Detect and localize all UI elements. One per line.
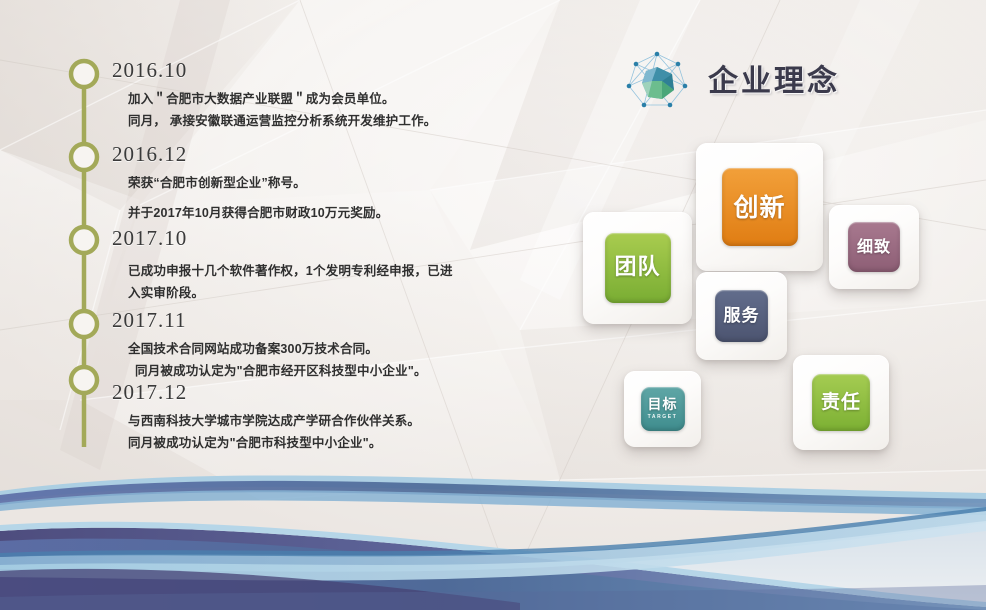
value-card-team[interactable]: 团队 <box>583 212 692 324</box>
value-tile: 服务 <box>715 290 768 342</box>
value-card-service[interactable]: 服务 <box>696 272 787 360</box>
value-card-responsibility[interactable]: 责任 <box>793 355 889 450</box>
value-label: 细致 <box>857 239 891 255</box>
value-tile: 团队 <box>605 233 671 303</box>
value-label: 创新 <box>733 195 785 220</box>
value-tile: 目标 TARGET <box>641 387 685 431</box>
value-label: 目标 <box>648 398 678 412</box>
value-tile: 创新 <box>722 168 798 246</box>
value-card-target[interactable]: 目标 TARGET <box>624 371 701 447</box>
value-card-innovation[interactable]: 创新 <box>696 143 823 271</box>
decorative-wave-band <box>0 445 986 610</box>
value-sublabel: TARGET <box>648 415 678 420</box>
value-label: 服务 <box>724 308 760 325</box>
value-label: 责任 <box>821 393 861 412</box>
value-label: 团队 <box>614 257 660 279</box>
value-card-meticulous[interactable]: 细致 <box>829 205 919 289</box>
slide-canvas: 2016.10 加入＂合肥市大数据产业联盟＂成为会员单位。 同月， 承接安徽联通… <box>0 0 986 610</box>
value-tile: 责任 <box>812 374 870 431</box>
value-tile: 细致 <box>848 222 900 272</box>
